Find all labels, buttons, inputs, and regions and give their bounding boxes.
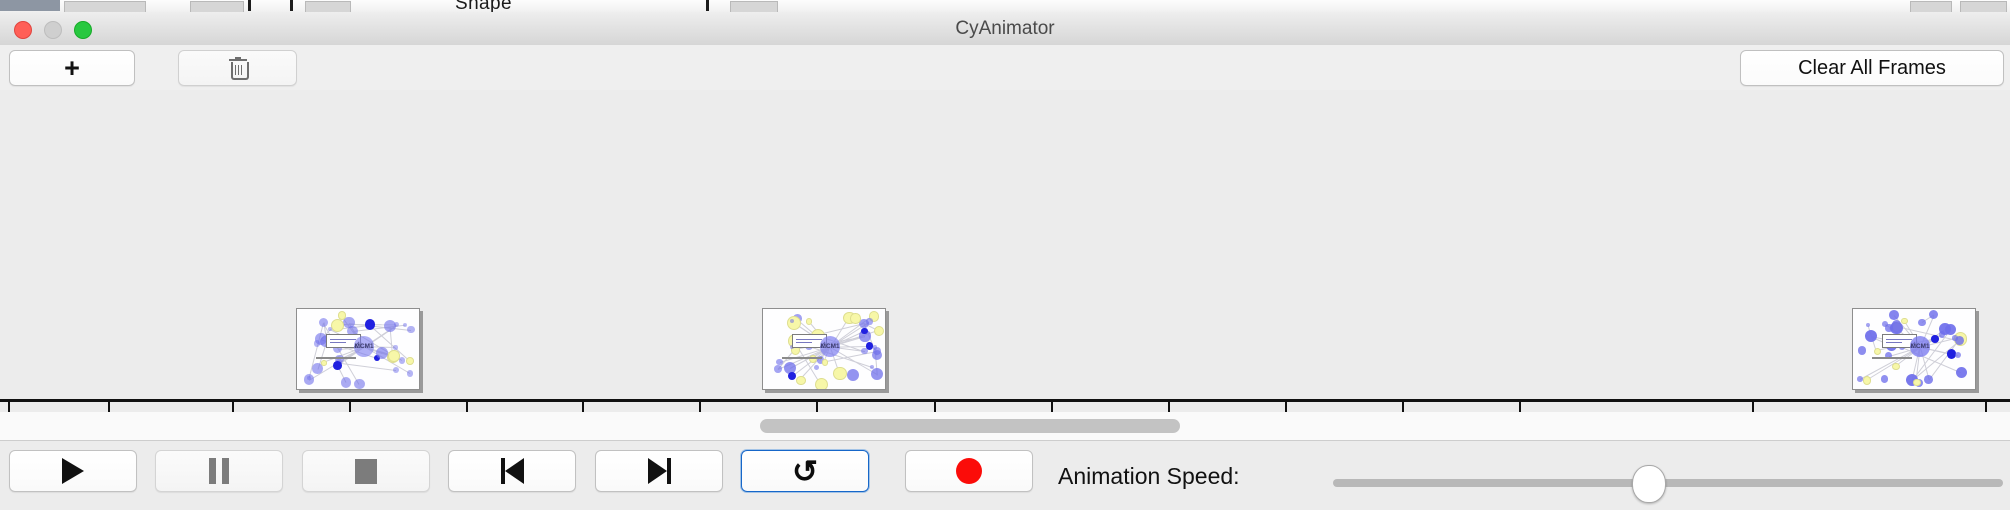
network-hub-node: MCM1 [820, 336, 841, 357]
network-node [833, 367, 847, 381]
network-annotation [316, 357, 356, 359]
network-node [787, 316, 801, 330]
network-node [1913, 379, 1921, 387]
network-node [1955, 352, 1961, 358]
network-node [1866, 323, 1870, 327]
network-node [788, 372, 796, 380]
plus-icon: + [64, 55, 80, 82]
record-icon [956, 458, 982, 484]
network-node [1874, 348, 1881, 355]
timeline-panel[interactable]: MCM1MCM1MCM1 2131415161718 Seconds [0, 90, 2010, 413]
animation-speed-slider[interactable] [1333, 479, 2003, 487]
network-node [815, 378, 828, 390]
network-thumbnail: MCM1 [763, 309, 885, 389]
title-bar[interactable]: CyAnimator [0, 12, 2010, 46]
network-node [1956, 367, 1967, 378]
network-node [847, 369, 859, 381]
keyframe-thumbnail[interactable]: MCM1 [1852, 308, 1976, 390]
network-node [1939, 331, 1945, 337]
network-node [774, 365, 782, 373]
next-frame-button[interactable] [595, 450, 723, 492]
transport-bar: ↻ Animation Speed: [0, 441, 2010, 510]
network-node [1858, 346, 1866, 354]
stop-icon [355, 459, 377, 484]
network-node [1885, 324, 1892, 331]
network-hub-node: MCM1 [354, 336, 375, 357]
network-node [1901, 318, 1907, 324]
animation-speed-label: Animation Speed: [1058, 463, 1240, 490]
network-node [1924, 375, 1933, 384]
network-node [806, 318, 813, 325]
trash-icon [228, 57, 248, 79]
network-hub-node: MCM1 [1910, 336, 1931, 357]
keyframe-thumbnail[interactable]: MCM1 [296, 308, 420, 390]
slider-track [1333, 479, 2003, 487]
network-thumbnail: MCM1 [297, 309, 419, 389]
loop-button[interactable]: ↻ [741, 450, 869, 492]
network-node [1931, 335, 1939, 343]
network-node [1857, 376, 1863, 382]
scrollbar-thumb[interactable] [760, 419, 1180, 433]
network-node [796, 376, 805, 385]
network-node [1889, 310, 1899, 320]
network-node [1865, 330, 1877, 342]
background-window-mark [248, 0, 251, 11]
network-node [319, 318, 329, 328]
pause-icon [209, 458, 229, 484]
skip-back-icon [501, 458, 524, 484]
network-node [814, 365, 819, 370]
network-node [1929, 310, 1938, 319]
network-node [384, 320, 396, 332]
stop-button[interactable] [302, 450, 430, 492]
timeline-scrollbar[interactable] [0, 412, 2010, 441]
network-node [331, 319, 344, 332]
network-node [872, 350, 883, 361]
network-node [354, 379, 365, 390]
play-button[interactable] [9, 450, 137, 492]
network-annotation [1872, 357, 1912, 359]
network-node [407, 370, 414, 377]
clear-all-frames-label: Clear All Frames [1798, 57, 1946, 80]
network-node [403, 323, 407, 327]
play-icon [62, 458, 84, 484]
network-node [304, 374, 315, 385]
timeline-axis [0, 399, 2010, 402]
loop-icon: ↻ [792, 456, 818, 487]
network-node [822, 359, 828, 365]
network-node [341, 377, 351, 387]
network-node [874, 326, 884, 336]
network-node [1863, 376, 1871, 384]
network-node [1881, 375, 1889, 383]
network-node [861, 328, 867, 334]
network-node [393, 367, 399, 373]
skip-forward-icon [648, 458, 671, 484]
network-node [1952, 335, 1958, 341]
network-thumbnail: MCM1 [1853, 309, 1975, 389]
background-window-mark [290, 0, 293, 11]
window-title: CyAnimator [0, 12, 2010, 45]
background-window-sidebar [0, 0, 60, 11]
network-node [388, 350, 399, 361]
slider-knob[interactable] [1632, 465, 1666, 503]
network-node [866, 318, 872, 324]
network-node [399, 357, 406, 364]
network-node [1892, 363, 1899, 370]
network-node [365, 319, 376, 330]
network-node [315, 333, 327, 345]
clear-all-frames-button[interactable]: Clear All Frames [1740, 50, 2004, 86]
network-annotation [782, 357, 822, 359]
previous-frame-button[interactable] [448, 450, 576, 492]
keyframe-thumbnail[interactable]: MCM1 [762, 308, 886, 390]
network-node [1918, 319, 1926, 327]
background-window-mark [706, 0, 709, 11]
network-node [321, 360, 327, 366]
delete-frame-button[interactable] [178, 50, 297, 86]
network-node [333, 361, 342, 370]
network-node [376, 347, 388, 359]
record-button[interactable] [905, 450, 1033, 492]
cyanimator-window: Shape CyAnimator + Clear All Frames M [0, 0, 2010, 510]
network-node [861, 348, 867, 354]
network-node [871, 368, 883, 380]
network-node [393, 345, 397, 349]
add-frame-button[interactable]: + [9, 50, 135, 86]
toolbar: + Clear All Frames [0, 45, 2010, 91]
network-node [850, 313, 860, 323]
network-node [407, 326, 414, 333]
network-node [406, 357, 414, 365]
pause-button[interactable] [155, 450, 283, 492]
